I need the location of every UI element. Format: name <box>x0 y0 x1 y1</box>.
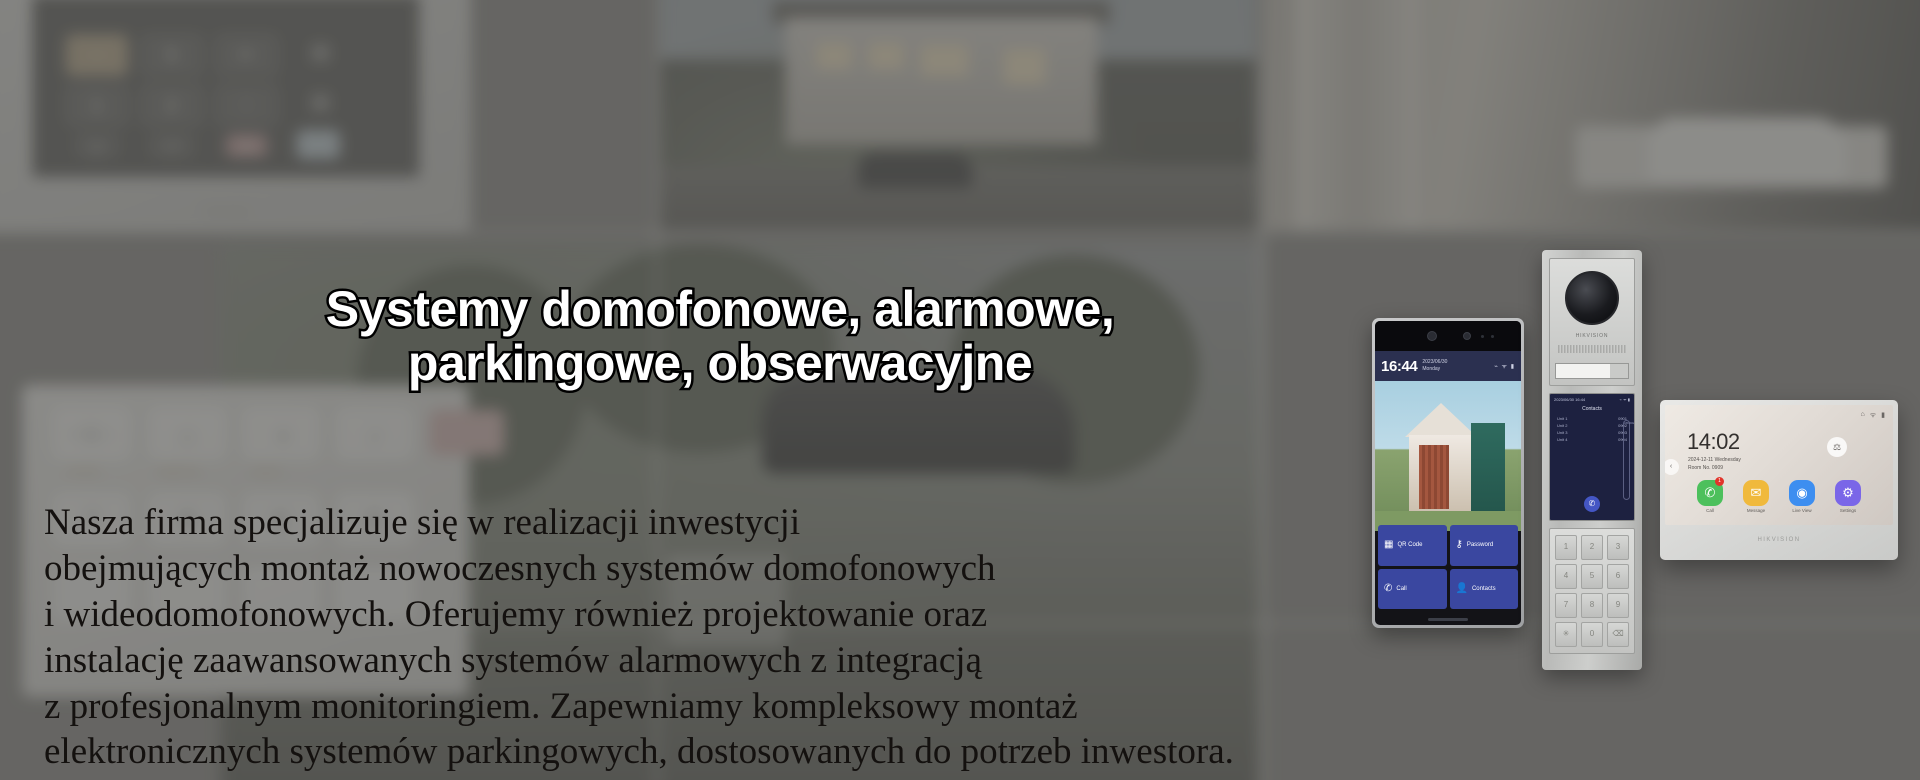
paragraph-line: i wideodomofonowych. Oferujemy również p… <box>44 592 1844 638</box>
paragraph-line: instalację zaawansowanych systemów alarm… <box>44 638 1844 684</box>
station-screen-time: 2023/06/30 16:44 <box>1554 397 1585 403</box>
contact-name: Unit 4 <box>1557 437 1567 442</box>
monitor-room-number: Room No. 0909 <box>1688 465 1723 471</box>
hero-paragraph: Nasza firma specjalizuje się w realizacj… <box>44 500 1844 775</box>
station-screen-status-icons: ⌁ ᯤ ▮ <box>1620 397 1630 403</box>
monitor-clock: 14:02 <box>1687 429 1740 455</box>
monitor-widget-icon[interactable]: ⚖ <box>1827 437 1847 457</box>
ir-dot-icon <box>1491 335 1494 338</box>
sensor-lens-icon <box>1463 332 1471 340</box>
monitor-app-badge: 1 <box>1715 477 1724 486</box>
camera-lens-icon <box>1427 331 1437 341</box>
tablet-clock: 16:44 <box>1381 358 1417 375</box>
station-camera-module: HIKVISION <box>1549 258 1635 386</box>
station-contact-row[interactable]: Unit 3 0903 <box>1550 429 1634 436</box>
paragraph-line: elektronicznych systemów parkingowych, d… <box>44 729 1844 775</box>
tablet-system-icons: ⌁ ᯤ ▮ <box>1494 362 1515 370</box>
headline-line-1: Systemy domofonowe, alarmowe, <box>95 282 1345 336</box>
tablet-weekday: Monday <box>1422 366 1440 372</box>
station-contact-row[interactable]: Unit 4 0904 <box>1550 436 1634 443</box>
paragraph-line: z profesjonalnym monitoringiem. Zapewnia… <box>44 684 1844 730</box>
camera-lens-icon <box>1565 271 1619 325</box>
paragraph-line: Nasza firma specjalizuje się w realizacj… <box>44 500 1844 546</box>
tablet-status-bar: 16:44 2023/06/30 Monday ⌁ ᯤ ▮ <box>1375 351 1521 381</box>
contact-name: Unit 3 <box>1557 430 1567 435</box>
ir-dot-icon <box>1481 335 1484 338</box>
tablet-camera-bar <box>1375 321 1521 351</box>
monitor-status-icons: ⌂ ᯤ ▮ <box>1861 411 1886 420</box>
station-brand: HIKVISION <box>1550 333 1634 339</box>
hero-banner: ↑ 5 ✂ ▤ 1 2 ⁝ ▤ ❙ ↺ ✖ ✔ Hanwha ⊣⊢ ☼ ◑ ♪ … <box>0 0 1920 780</box>
speaker-grille-icon <box>1558 345 1626 353</box>
contact-name: Unit 2 <box>1557 423 1567 428</box>
paragraph-line: obejmujących montaż nowoczesnych systemó… <box>44 546 1844 592</box>
monitor-back-button[interactable]: ‹ <box>1665 459 1679 475</box>
contact-name: Unit 1 <box>1557 416 1567 421</box>
station-nameplate <box>1555 363 1629 379</box>
page-title: Systemy domofonowe, alarmowe, parkingowe… <box>95 282 1345 390</box>
wifi-icon: ᯤ <box>1870 411 1876 420</box>
battery-icon: ▮ <box>1881 411 1885 420</box>
home-icon: ⌂ <box>1861 411 1865 420</box>
monitor-date: 2024-12-11 Wednesday <box>1688 457 1741 463</box>
station-alpha-scrollbar[interactable]: ABCDEFGH <box>1623 420 1630 500</box>
station-screen-title: Contacts <box>1550 406 1634 412</box>
headline-line-2: parkingowe, obserwacyjne <box>95 336 1345 390</box>
station-contact-row[interactable]: Unit 1 0901 <box>1550 415 1634 422</box>
tablet-date: 2023/06/30 <box>1422 359 1447 365</box>
station-contact-row[interactable]: Unit 2 0902 <box>1550 422 1634 429</box>
